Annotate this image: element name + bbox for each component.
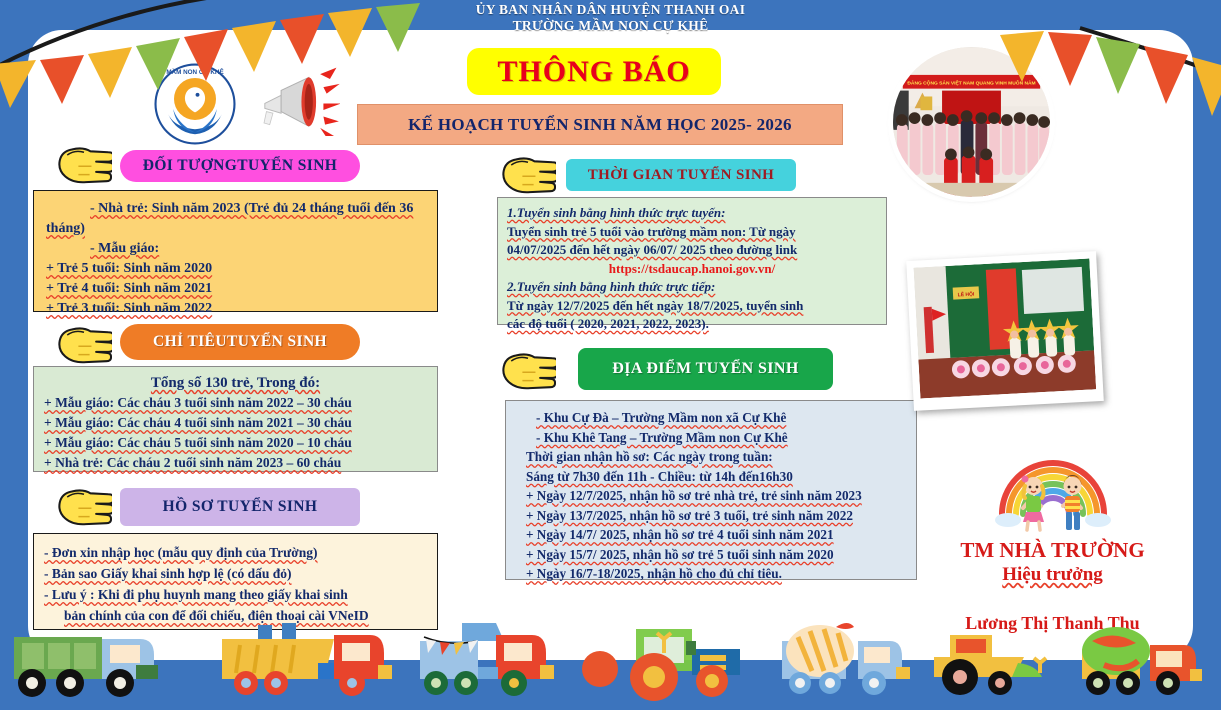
doi-tuong-line-2: + Trẻ 5 tuổi: Sinh năm 2020 [46,259,425,279]
pointing-hand-icon [56,142,112,184]
section-badge-ho-so: HỒ SƠ TUYỂN SINH [120,488,360,526]
thoi-gian-heading-2: 2.Tuyển sinh bằng hình thức trực tiếp: [507,278,877,297]
pointing-hand-icon [56,484,112,526]
school-logo-icon: MẦM NON CỰ KHÊ [153,62,237,146]
dia-diem-line-7: + Ngày 15/7/ 2025, nhận hồ sơ trẻ 5 tuổi… [518,545,904,565]
header-line-2: TRƯỜNG MẦM NON CỰ KHÊ [0,18,1221,34]
ho-so-line-0: - Đơn xin nhập học (mẫu quy định của Trư… [44,542,427,563]
pointing-hand-icon [500,348,556,390]
chi-tieu-heading: Tổng số 130 trẻ, Trong đó: [44,373,427,393]
thoi-gian-body-2b: các độ tuổi ( 2020, 2021, 2022, 2023). [507,315,877,334]
dia-diem-line-6: + Ngày 14/7/ 2025, nhận hồ sơ trẻ 4 tuổi… [518,525,904,545]
dia-diem-line-8: + Ngày 16/7-18/2025, nhận hồ cho đủ chỉ … [518,564,904,584]
signature-block: TM NHÀ TRƯỜNG Hiệu trưởng Lương Thị Than… [925,440,1180,634]
chi-tieu-line-2: + Mẫu giáo: Các cháu 5 tuổi sinh năm 202… [44,433,427,453]
pointing-hand-icon [56,322,112,364]
chi-tieu-line-0: + Mẫu giáo: Các cháu 3 tuổi sinh năm 202… [44,393,427,413]
page-title: THÔNG BÁO [467,48,721,95]
doi-tuong-line-4: + Trẻ 3 tuổi: Sinh năm 2022 [46,299,425,319]
chi-tieu-line-1: + Mẫu giáo: Các cháu 4 tuổi sinh năm 202… [44,413,427,433]
megaphone-icon [258,66,340,136]
thoi-gian-body-1b: 04/07/2025 đến hết ngày 06/07/ 2025 theo… [507,241,877,260]
rainbow-kids-icon [988,440,1118,536]
teachers-group-photo: ĐẢNG CỘNG SẢN VIỆT NAM QUANG VINH MUÔN N… [893,47,1050,197]
dia-diem-line-2: Thời gian nhận hồ sơ: Các ngày trong tuầ… [518,447,904,467]
section-badge-dia-diem: ĐỊA ĐIỂM TUYỂN SINH [578,348,833,390]
stage-performance-photo: LỄ HỘI [906,251,1104,411]
thoi-gian-body-2a: Từ ngày 12/7/2025 đến hết ngày 18/7/2025… [507,297,877,316]
thoi-gian-body-1a: Tuyển sinh trẻ 5 tuổi vào trường mầm non… [507,223,877,242]
dia-diem-line-3: Sáng từ 7h30 đến 11h - Chiều: từ 14h đến… [518,467,904,487]
dia-diem-line-1: - Khu Khê Tang – Trường Mầm non Cự Khê [518,428,904,448]
chi-tieu-line-3: + Nhà trẻ: Các cháu 2 tuổi sinh năm 2023… [44,453,427,473]
section-badge-thoi-gian: THỜI GIAN TUYỂN SINH [566,159,796,191]
doi-tuong-line-0: - Nhà trẻ: Sinh năm 2023 (Trẻ đủ 24 thán… [46,199,425,239]
section-badge-doi-tuong: ĐỐI TƯỢNGTUYỂN SINH [120,150,360,182]
page-subtitle: KẾ HOẠCH TUYỂN SINH NĂM HỌC 2025- 2026 [357,104,843,145]
section-badge-chi-tieu: CHỈ TIÊUTUYỂN SINH [120,324,360,360]
dia-diem-line-5: + Ngày 13/7/2025, nhận hồ sơ trẻ 3 tuổi,… [518,506,904,526]
dia-diem-line-4: + Ngày 12/7/2025, nhận hồ sơ trẻ nhà trẻ… [518,486,904,506]
panel-doi-tuong: - Nhà trẻ: Sinh năm 2023 (Trẻ đủ 24 thán… [33,190,438,312]
panel-thoi-gian: 1.Tuyển sinh bằng hình thức trực tuyến: … [497,197,887,325]
pointing-hand-icon [500,152,556,194]
ho-so-line-2: - Lưu ý : Khi đi phụ huynh mang theo giấ… [44,584,427,605]
vehicles-decoration [0,615,1221,710]
registration-link[interactable]: https://tsdaucap.hanoi.gov.vn/ [507,260,877,279]
header-line-1: ỦY BAN NHÂN DÂN HUYỆN THANH OAI [0,2,1221,18]
ho-so-line-1: - Bản sao Giấy khai sinh hợp lệ (có dấu … [44,563,427,584]
panel-chi-tieu: Tổng số 130 trẻ, Trong đó: + Mẫu giáo: C… [33,366,438,472]
dia-diem-line-0: - Khu Cự Đà – Trường Mầm non xã Cự Khê [518,408,904,428]
signature-line-2: Hiệu trưởng [925,563,1180,587]
panel-dia-diem: - Khu Cự Đà – Trường Mầm non xã Cự Khê -… [505,400,917,580]
doi-tuong-line-1: - Mẫu giáo: [46,239,425,259]
signature-line-1: TM NHÀ TRƯỜNG [925,538,1180,563]
thoi-gian-heading-1: 1.Tuyển sinh bằng hình thức trực tuyến: [507,204,877,223]
header-band: ỦY BAN NHÂN DÂN HUYỆN THANH OAI TRƯỜNG M… [0,0,1221,32]
doi-tuong-line-3: + Trẻ 4 tuổi: Sinh năm 2021 [46,279,425,299]
